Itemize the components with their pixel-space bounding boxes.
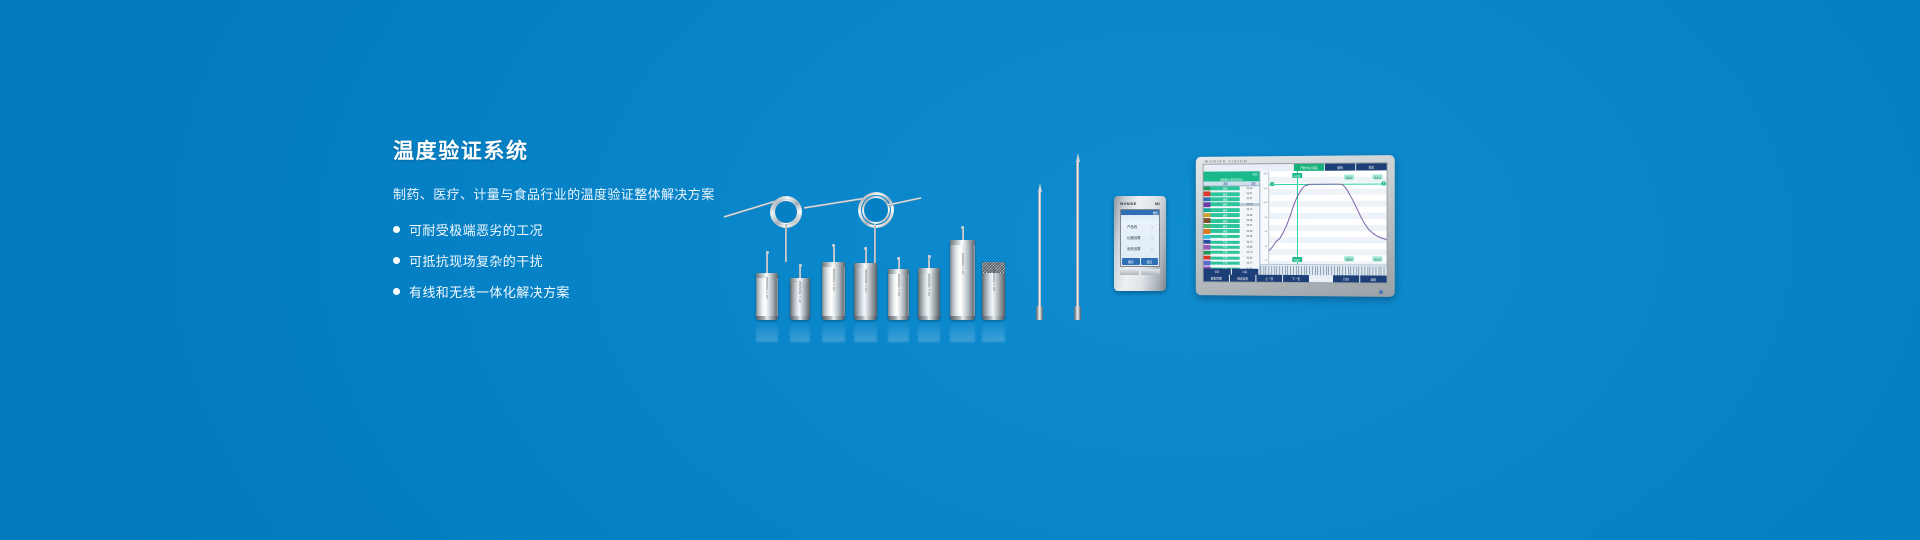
handheld-reader[interactable]: WONIKE M1 数据 产品线 > 仪器设置 > — [1114, 196, 1166, 291]
coiled-probe-left — [724, 196, 804, 236]
screen-title: 数据 — [1153, 211, 1158, 215]
channel-name: 通道 — [1210, 203, 1239, 207]
subheader-label: 通道编号/温度值/状态 — [1220, 177, 1242, 181]
data-logger-4: WONIKE T-04 — [854, 263, 877, 320]
product-label: WONIKE T-07 — [961, 253, 965, 275]
chevron-right-icon: > — [1151, 247, 1153, 251]
product-label: WONIKE T-05 — [897, 274, 901, 296]
column-header-temp: 温度 — [1248, 181, 1260, 185]
probe-stem — [833, 244, 835, 262]
key-left[interactable] — [1120, 269, 1139, 275]
prev-page-button[interactable]: 上一页 — [1256, 275, 1282, 282]
x-tick — [1384, 266, 1387, 275]
chevron-right-icon: > — [1151, 225, 1153, 229]
feature-label: 可耐受极端恶劣的工况 — [409, 220, 543, 239]
brand-label: WONIKE — [1120, 202, 1137, 206]
data-logger-6: WONIKE T-06 — [918, 268, 940, 320]
chevron-right-icon: > — [1151, 236, 1153, 240]
probe-stem — [799, 264, 801, 278]
channel-value: 52.66 — [1240, 214, 1260, 217]
data-logger-7: WONIKE T-07 — [950, 240, 975, 320]
channel-value: 52.68 — [1240, 235, 1260, 238]
cable-coil-icon — [862, 196, 890, 224]
monitor-brand: WONIKE VISION — [1205, 158, 1248, 163]
bullet-dot-icon — [393, 257, 400, 264]
data-logger-2: WONIKE T-02 — [790, 278, 810, 320]
channel-color-swatch — [1204, 208, 1211, 212]
confirm-button[interactable]: 确定 — [1122, 258, 1140, 265]
channel-name: T-02 — [1210, 240, 1239, 243]
time-label: 时间 — [1253, 172, 1258, 176]
menu-label: 仪器设置 — [1127, 235, 1141, 240]
temperature-curve — [1269, 170, 1386, 264]
plot-canvas[interactable]: A B 标记线 起始点 结束点 终止点 结束点 终止点 — [1268, 170, 1386, 264]
product-label: WONIKE T-01 — [765, 277, 769, 299]
data-manage-button[interactable]: 数据管理 — [1204, 274, 1229, 281]
channel-color-swatch — [1204, 186, 1211, 190]
x-axis[interactable] — [1260, 264, 1386, 276]
print-button[interactable]: 打印 — [1333, 275, 1359, 282]
feature-label: 有线和无线一体化解决方案 — [409, 282, 570, 301]
coiled-probe-right — [796, 190, 906, 236]
product-label: WONIKE T-08 — [992, 269, 996, 291]
probe-stem — [766, 251, 768, 273]
menu-label: 系统设置 — [1127, 246, 1141, 251]
product-label: WONIKE T-02 — [798, 281, 802, 303]
channel-name: T-01 — [1210, 235, 1239, 238]
chart-plot-area: 14012010080604020 A B 标记线 起始点 结束点 终止点 结 — [1260, 170, 1386, 264]
channel-name: T-06 — [1210, 262, 1239, 265]
exit-button[interactable]: 退出 — [1360, 275, 1386, 282]
channel-value: 52.70 — [1240, 203, 1260, 206]
data-logger-3: WONIKE T-03 — [822, 262, 845, 320]
probe-stem — [962, 226, 964, 240]
column-header-channel: 通道 — [1204, 181, 1248, 185]
channel-color-swatch — [1204, 250, 1211, 254]
handheld-softkeys[interactable]: 确定 返回 — [1121, 257, 1159, 266]
channel-color-swatch — [1204, 224, 1211, 228]
power-led-icon — [1379, 290, 1382, 293]
channel-name: 通道 — [1210, 224, 1239, 228]
probe-base — [1036, 306, 1043, 320]
handheld-menu[interactable]: 产品线 > 仪器设置 > 系统设置 > — [1121, 215, 1159, 257]
bottom-spacer — [1310, 275, 1332, 282]
data-logger-1: WONIKE T-01 — [756, 273, 778, 320]
channel-color-swatch — [1204, 197, 1211, 201]
probe-stem — [898, 257, 900, 269]
channel-table[interactable]: 时间 通道编号/温度值/状态 通道 温度 通道52.64通道52.61通道52.… — [1204, 171, 1261, 275]
channel-name: 通道 — [1210, 197, 1239, 201]
data-logger-8-mesh: WONIKE T-08 — [982, 262, 1005, 320]
product-label: WONIKE T-06 — [927, 273, 931, 295]
channel-value: 52.73 — [1240, 240, 1260, 243]
menu-label: 产品线 — [1127, 224, 1137, 229]
y-axis: 14012010080604020 — [1260, 171, 1268, 264]
channel-color-swatch — [1204, 234, 1211, 238]
channel-value: 52.71 — [1240, 224, 1260, 227]
probe-stem — [928, 255, 930, 268]
app-body: 时间 通道编号/温度值/状态 通道 温度 通道52.64通道52.61通道52.… — [1204, 170, 1387, 275]
needle-probe-long — [1076, 162, 1079, 320]
channel-name: 通道 — [1210, 186, 1239, 190]
channel-color-swatch — [1204, 240, 1211, 244]
channel-name: 通道 — [1210, 229, 1239, 233]
probe-base — [1074, 306, 1081, 320]
channel-name: T-05 — [1210, 256, 1239, 259]
channel-value: 52.77 — [1240, 262, 1260, 265]
validation-software-window[interactable]: 开始/停止采集 曲线 报表 时间 通道编号/温度值/状态 通道 — [1203, 162, 1388, 283]
handheld-screen[interactable]: 数据 产品线 > 仪器设置 > 系统设置 > — [1120, 209, 1160, 267]
list-item[interactable]: 产品线 > — [1125, 224, 1155, 229]
data-logger-5: WONIKE T-05 — [888, 269, 909, 320]
model-label: M1 — [1155, 202, 1160, 206]
channel-value: 52.67 — [1240, 198, 1260, 201]
product-label: WONIKE T-04 — [864, 270, 868, 292]
channel-value: 52.72 — [1240, 208, 1260, 211]
product-label: WONIKE T-03 — [832, 269, 836, 291]
table-body[interactable]: 通道52.64通道52.61通道52.67通道52.70通道52.72通道52.… — [1204, 186, 1260, 269]
channel-name: 通道 — [1210, 208, 1239, 212]
channel-config-button[interactable]: 通道设置 — [1230, 275, 1256, 282]
channel-color-swatch — [1204, 256, 1211, 260]
product-photo-group: WONIKE T-01 WONIKE T-02 WONIKE T-03 WO — [700, 120, 1240, 320]
channel-value: 52.62 — [1240, 257, 1260, 260]
key-right[interactable] — [1141, 269, 1160, 275]
channel-value: 52.65 — [1240, 246, 1260, 249]
channel-name: T-04 — [1210, 251, 1239, 254]
temperature-chart[interactable]: 14012010080604020 A B 标记线 起始点 结束点 终止点 结 — [1260, 170, 1386, 275]
list-item[interactable]: 系统设置 > — [1125, 246, 1155, 251]
channel-color-swatch — [1204, 245, 1211, 249]
channel-name: 通道 — [1210, 192, 1239, 196]
channel-color-swatch — [1204, 213, 1211, 217]
channel-color-swatch — [1204, 229, 1211, 233]
next-page-button[interactable]: 下一页 — [1283, 275, 1309, 282]
handheld-keypad[interactable] — [1120, 269, 1160, 275]
hero-banner: 温度验证系统 制药、医疗、计量与食品行业的温度验证整体解决方案 可耐受极端恶劣的… — [0, 0, 1920, 540]
channel-color-swatch — [1204, 261, 1211, 265]
monitor-display: WONIKE VISION 开始/停止采集 曲线 报表 时间 — [1196, 155, 1395, 297]
channel-color-swatch — [1204, 192, 1211, 196]
back-button[interactable]: 返回 — [1141, 258, 1159, 265]
bullet-dot-icon — [393, 226, 400, 233]
channel-value: 52.61 — [1240, 192, 1260, 195]
channel-value: 52.64 — [1240, 187, 1260, 190]
channel-value: 52.63 — [1240, 230, 1260, 233]
channel-name: 通道 — [1210, 213, 1239, 217]
feature-label: 可抵抗现场复杂的干扰 — [409, 251, 543, 270]
bullet-dot-icon — [393, 288, 400, 295]
probe-stem — [865, 247, 867, 263]
channel-name: 通道 — [1210, 219, 1239, 223]
needle-probe-short — [1038, 192, 1041, 320]
channel-color-swatch — [1204, 218, 1211, 222]
channel-color-swatch — [1204, 202, 1211, 206]
handheld-brandbar: WONIKE M1 — [1117, 199, 1163, 208]
list-item[interactable]: 仪器设置 > — [1125, 235, 1155, 240]
app-bottom-bar[interactable]: 数据管理 通道设置 上一页 下一页 打印 退出 — [1204, 274, 1387, 282]
channel-value: 52.69 — [1240, 219, 1260, 222]
channel-name: T-03 — [1210, 246, 1239, 249]
channel-value: 52.74 — [1240, 251, 1260, 254]
